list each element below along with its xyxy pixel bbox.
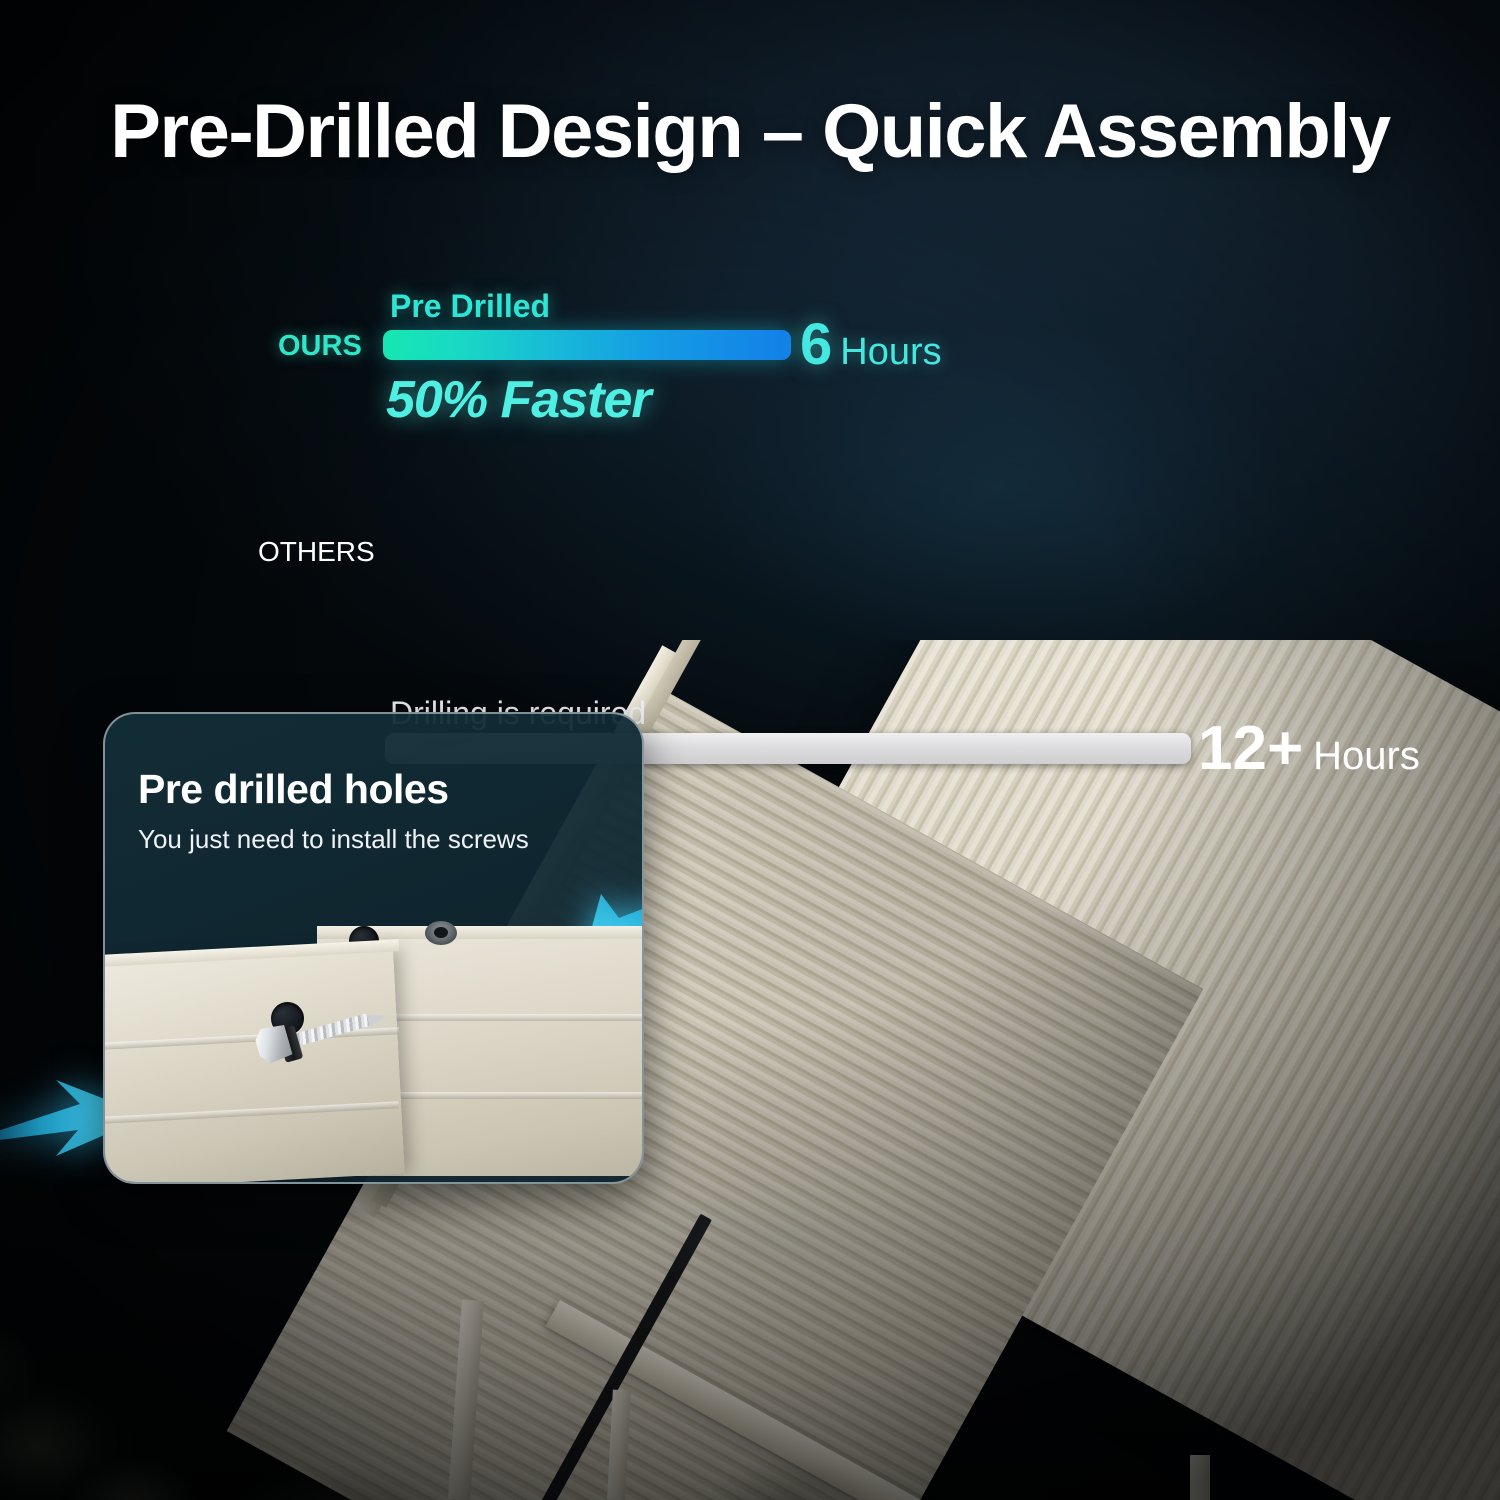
chart-value-number-others: 12+ (1198, 718, 1303, 780)
chart-value-others: 12+ Hours (1198, 718, 1420, 780)
callout-subtitle: You just need to install the screws (138, 824, 529, 855)
metal-beam-front (103, 948, 405, 1184)
comparison-chart: OURS Pre Drilled 6 Hours 50% Faster OTHE… (0, 290, 1500, 620)
chart-axis-label-others: OTHERS (258, 536, 375, 568)
callout-title: Pre drilled holes (138, 766, 449, 813)
chart-bar-ours (383, 330, 791, 360)
chart-caption-ours: Pre Drilled (390, 288, 550, 325)
chart-value-ours: 6 Hours (800, 316, 942, 374)
callout-card-pre-drilled-holes: Pre drilled holes You just need to insta… (103, 712, 644, 1184)
infographic-canvas: Pre-Drilled Design – Quick Assembly OURS… (0, 0, 1500, 1500)
chart-value-number-ours: 6 (800, 316, 832, 374)
page-title: Pre-Drilled Design – Quick Assembly (0, 88, 1500, 175)
washer-bore (434, 927, 448, 938)
chart-axis-label-ours: OURS (278, 330, 362, 363)
chart-value-unit-others: Hours (1313, 734, 1420, 779)
chart-highlight-faster: 50% Faster (386, 370, 651, 430)
chart-value-unit-ours: Hours (840, 331, 941, 374)
